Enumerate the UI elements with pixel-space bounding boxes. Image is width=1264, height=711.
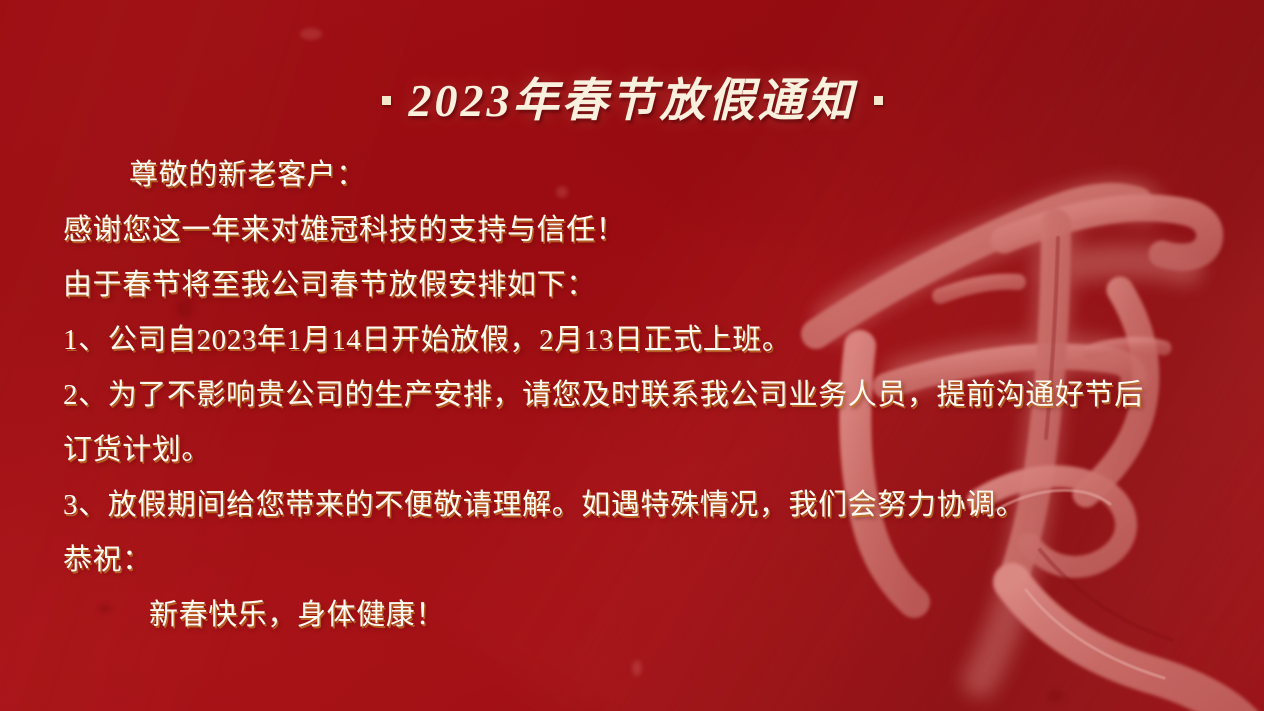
title-text: 2023年春节放假通知 bbox=[409, 75, 856, 126]
title-bullet-left-icon bbox=[382, 96, 391, 105]
notice-body: 尊敬的新老客户： 感谢您这一年来对雄冠科技的支持与信任！ 由于春节将至我公司春节… bbox=[63, 148, 1243, 643]
notice-item-1: 1、公司自2023年1月14日开始放假，2月13日正式上班。 bbox=[63, 313, 1243, 368]
closing-label: 恭祝： bbox=[63, 533, 1243, 588]
notice-item-2-continued: 订货计划。 bbox=[63, 423, 1243, 478]
paragraph-line-2: 由于春节将至我公司春节放假安排如下： bbox=[63, 258, 1243, 313]
paragraph-line-1: 感谢您这一年来对雄冠科技的支持与信任！ bbox=[63, 203, 1243, 258]
poster-content: 2023年春节放假通知 尊敬的新老客户： 感谢您这一年来对雄冠科技的支持与信任！… bbox=[0, 0, 1264, 711]
salutation-line: 尊敬的新老客户： bbox=[63, 148, 1243, 203]
notice-item-2: 2、为了不影响贵公司的生产安排，请您及时联系我公司业务人员，提前沟通好节后 bbox=[63, 368, 1243, 423]
page-title: 2023年春节放假通知 bbox=[0, 64, 1264, 130]
notice-item-3: 3、放假期间给您带来的不便敬请理解。如遇特殊情况，我们会努力协调。 bbox=[63, 478, 1243, 533]
holiday-notice-poster: 2023年春节放假通知 尊敬的新老客户： 感谢您这一年来对雄冠科技的支持与信任！… bbox=[0, 0, 1264, 711]
closing-wish: 新春快乐，身体健康！ bbox=[63, 588, 1243, 643]
title-bullet-right-icon bbox=[874, 96, 883, 105]
